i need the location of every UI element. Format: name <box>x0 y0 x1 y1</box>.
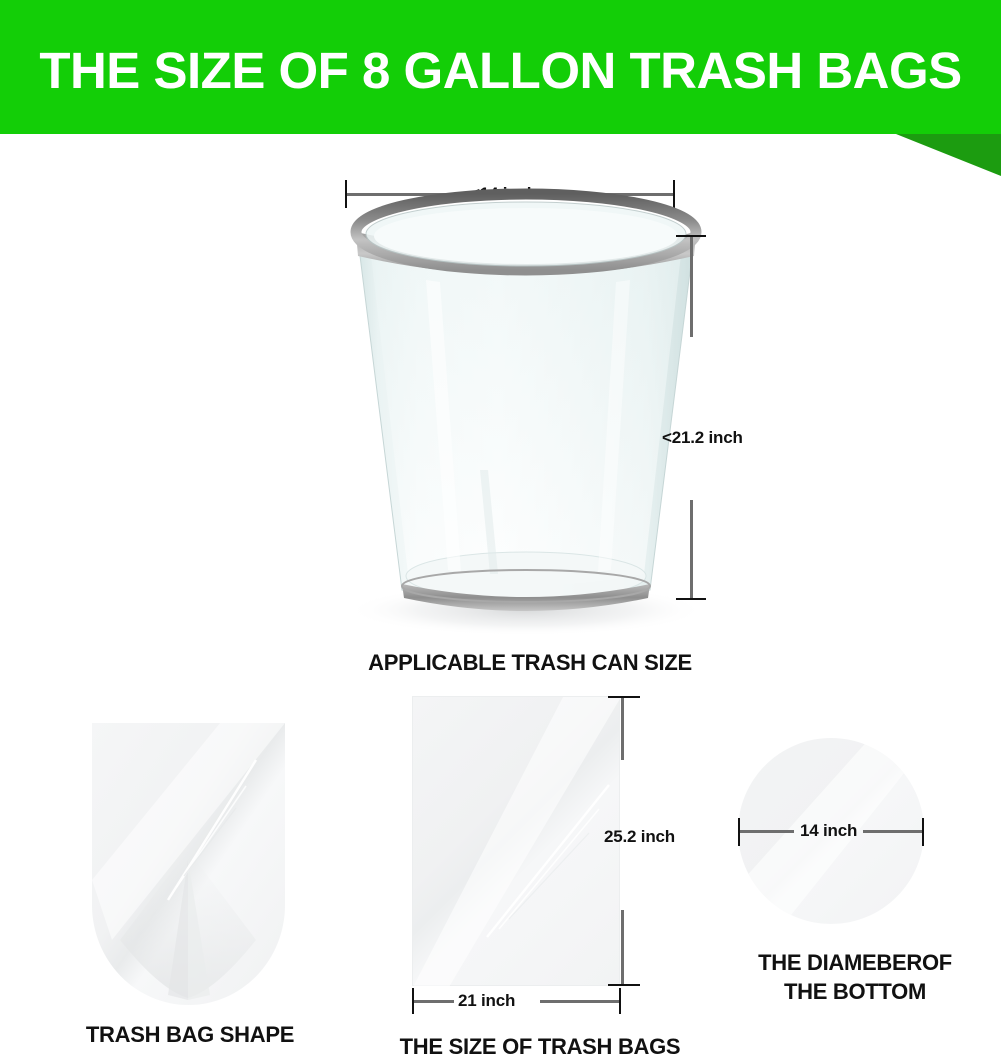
bag-width-line-left <box>414 1000 454 1003</box>
bottom-diameter-tick-right <box>922 818 924 846</box>
bag-height-tick-top <box>608 696 640 698</box>
trash-bag-size-caption: THE SIZE OF TRASH BAGS <box>370 1034 710 1060</box>
header-banner: THE SIZE OF 8 GALLON TRASH BAGS <box>0 0 1001 134</box>
can-height-label: <21.2 inch <box>662 428 743 448</box>
trash-bag-bottom-illustration: 14 inch <box>710 730 1000 960</box>
trash-bag-shape-caption: TRASH BAG SHAPE <box>40 1022 340 1048</box>
bag-height-label: 25.2 inch <box>604 827 675 847</box>
can-height-line-top <box>690 237 693 337</box>
trash-bag-size-illustration: 25.2 inch 21 inch <box>380 680 700 1030</box>
bag-width-tick-right <box>619 988 621 1014</box>
ribbon-fold-decoration <box>896 134 1001 176</box>
bag-height-line-bottom <box>621 910 624 984</box>
trash-can-graphic <box>330 170 730 640</box>
bag-width-label: 21 inch <box>458 991 515 1011</box>
page-title: THE SIZE OF 8 GALLON TRASH BAGS <box>0 0 1001 134</box>
bag-height-tick-bottom <box>608 984 640 986</box>
bottom-diameter-line-right <box>863 830 922 833</box>
trash-can-caption: APPLICABLE TRASH CAN SIZE <box>330 650 730 676</box>
bag-height-line-top <box>621 698 624 760</box>
bottom-diameter-line-left <box>740 830 794 833</box>
bottom-caption-line1: THE DIAMEBEROF <box>758 950 952 975</box>
can-height-tick-bottom <box>676 598 706 600</box>
bottom-diameter-label: 14 inch <box>800 821 857 841</box>
trash-bag-bottom-caption: THE DIAMEBEROF THE BOTTOM <box>710 948 1000 1006</box>
can-height-line-bottom <box>690 500 693 598</box>
trash-bag-gloss <box>413 697 621 987</box>
trash-bag-shape-illustration <box>60 690 360 1030</box>
bottom-caption-line2: THE BOTTOM <box>784 979 926 1004</box>
trash-can-illustration: <14 inch <box>330 170 730 670</box>
trash-bag-rectangle <box>412 696 620 986</box>
bag-width-line-right <box>540 1000 619 1003</box>
trash-bag-shape-graphic <box>60 690 360 1020</box>
